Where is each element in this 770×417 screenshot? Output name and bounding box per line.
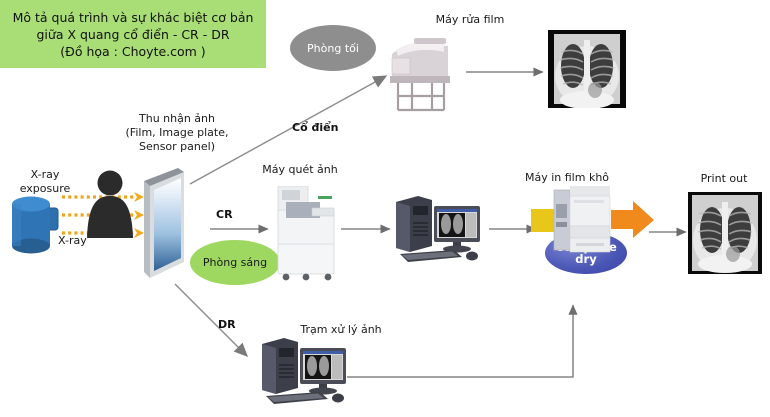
xray-beam-group [62,197,134,233]
workstation-label: Trạm xử lý ảnh [295,323,387,337]
film-processor-label: Máy rửa film [422,13,518,27]
capture-label: Thu nhận ảnh (Film, Image plate, Sensor … [116,112,238,154]
dry-printer-label: Máy in film khô [512,171,622,185]
chest-radiograph-top [548,30,626,108]
computer-workstation-center [392,194,488,270]
film-processor-icon [386,28,460,114]
path-label-cr: CR [216,208,233,221]
xray-exposure-label: X-ray exposure [6,168,84,196]
dark-room-label: Phòng tối [307,42,359,55]
xray-beam-heads [134,192,144,238]
title-line-3: (Đồ họa : Choyte.com ) [60,43,205,60]
xray-beam-head-3 [134,228,144,238]
scanner-label: Máy quét ảnh [254,163,346,177]
dark-room-bubble: Phòng tối [290,25,376,71]
title-box: Mô tả quá trình và sự khác biệt cơ bản g… [0,0,266,68]
xray-beam-head-1 [134,192,144,202]
path-label-classic: Cổ điển [292,121,338,134]
cr-scanner-icon [272,186,340,282]
title-line-1: Mô tả quá trình và sự khác biệt cơ bản [13,9,254,26]
light-room-bubble: Phòng sáng [190,240,280,285]
light-room-label: Phòng sáng [203,256,267,269]
arrow-dr [175,284,247,356]
print-out-label: Print out [690,172,758,186]
arrow-dr-feedback [347,305,573,377]
dry-film-printer-icon [552,186,612,258]
detector-panel-icon [144,168,184,278]
path-label-dr: DR [218,318,236,331]
computer-workstation-dr [258,336,354,412]
xray-beam-label: X-ray [58,234,102,248]
chest-radiograph-printout [688,192,762,274]
orange-output-arrow [611,200,655,240]
title-line-2: giữa X quang cổ điển - CR - DR [37,26,230,43]
xray-beam-head-2 [134,210,144,220]
xray-tube-icon [12,197,58,254]
patient-silhouette-icon [87,171,133,239]
